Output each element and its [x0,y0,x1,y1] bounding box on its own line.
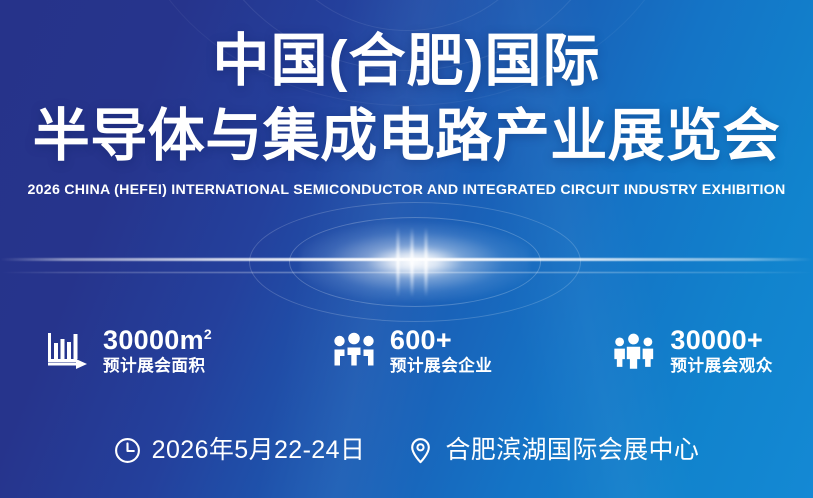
clock-icon [114,437,141,464]
light-streak-secondary [0,272,813,273]
flare-spike-right [425,227,428,297]
stat-text-companies: 600+ 预计展会企业 [390,325,493,377]
event-venue: 合肥滨湖国际会展中心 [407,435,699,465]
stat-label-visitors: 预计展会观众 [670,355,773,377]
page-title-line2: 半导体与集成电路产业展览会 [0,98,813,174]
stat-item-visitors: 30000+ 预计展会观众 [611,325,773,377]
audience-people-icon [611,329,657,373]
ring-inner [256,0,558,31]
stat-value-visitors: 30000+ [670,325,773,355]
team-group-icon [331,329,377,373]
event-date-text: 2026年5月22-24日 [152,435,366,465]
flare-spike-center [411,227,414,297]
stat-label-area: 预计展会面积 [103,355,212,377]
flare-halo-outer [249,202,581,322]
stat-item-companies: 600+ 预计展会企业 [331,325,493,377]
light-streak [0,258,813,261]
page-subtitle-english: 2026 CHINA (HEFEI) INTERNATIONAL SEMICON… [0,182,813,198]
footer-meta: 2026年5月22-24日 合肥滨湖国际会展中心 [0,428,813,472]
stats-row: 30000m2 预计展会面积 600+ 预计展会企业 [44,318,773,384]
stat-item-area: 30000m2 预计展会面积 [44,325,212,377]
exhibition-banner: 中国(合肥)国际 半导体与集成电路产业展览会 2026 CHINA (HEFEI… [0,0,813,498]
flare-halo-inner [289,217,541,307]
stat-value-companies: 600+ [390,325,493,355]
stat-text-area: 30000m2 预计展会面积 [103,325,212,377]
stat-value-area: 30000m2 [103,325,212,355]
background-sheen [0,0,813,498]
ring-outer [126,0,688,106]
bar-chart-growth-icon [44,329,90,373]
event-venue-text: 合肥滨湖国际会展中心 [445,435,699,465]
page-title-line1: 中国(合肥)国际 [0,24,813,98]
event-date: 2026年5月22-24日 [114,435,366,465]
ring-middle [196,0,618,71]
decorative-rings [87,0,727,60]
stat-text-visitors: 30000+ 预计展会观众 [670,325,773,377]
title-block: 中国(合肥)国际 半导体与集成电路产业展览会 2026 CHINA (HEFEI… [0,24,813,198]
stat-label-companies: 预计展会企业 [390,355,493,377]
light-burst-core [300,223,530,301]
flare-spike-left [397,227,400,297]
location-pin-icon [407,437,434,464]
